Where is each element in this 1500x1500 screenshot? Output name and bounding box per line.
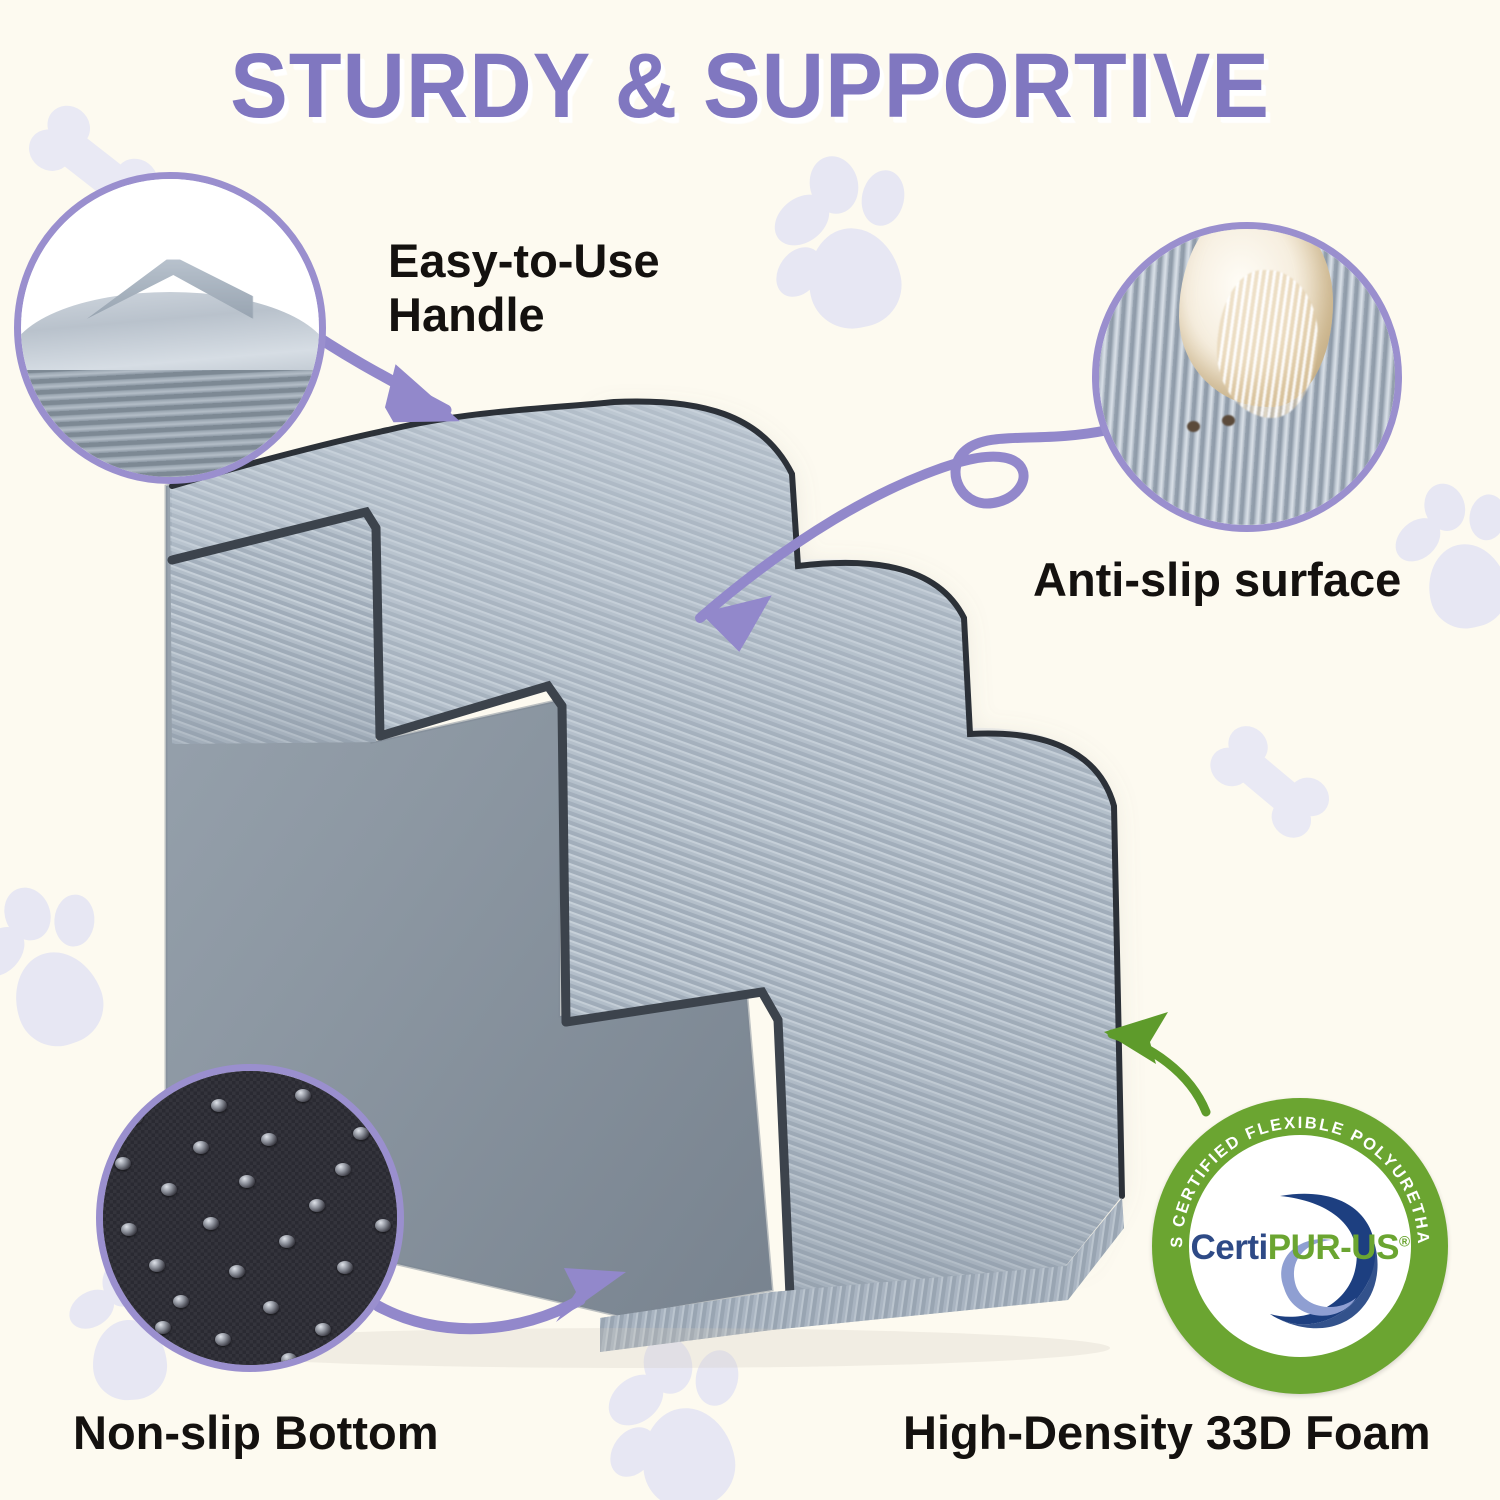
- handle-closeup-circle[interactable]: [14, 172, 326, 484]
- dog-toe-nail: [1222, 415, 1235, 426]
- antislip-closeup-circle[interactable]: [1092, 222, 1402, 532]
- arrow-nonslip-head: [556, 1268, 626, 1322]
- handle-corduroy-ribs: [14, 370, 326, 477]
- badge-wordmark: CertiPUR-US®: [1152, 1228, 1448, 1268]
- nonslip-grip-dots: [103, 1071, 397, 1365]
- badge-registered-mark: ®: [1399, 1234, 1410, 1251]
- callout-label-nonslip: Non-slip Bottom: [73, 1406, 439, 1460]
- dog-toe-nail: [1187, 421, 1200, 432]
- arrow-handle-head: [384, 364, 466, 430]
- arrow-nonslip: [378, 1300, 580, 1329]
- badge-wordmark-certi: Certi: [1191, 1228, 1268, 1267]
- callout-label-foam: High-Density 33D Foam: [903, 1406, 1431, 1460]
- dog-fur-strands: [1217, 270, 1318, 418]
- badge-arc-top-text: CONTAINS CERTIFIED FLEXIBLE POLYURETHANE…: [1152, 1098, 1432, 1248]
- badge-arc-top-textpath: CONTAINS CERTIFIED FLEXIBLE POLYURETHANE…: [1152, 1098, 1432, 1248]
- nonslip-closeup-circle[interactable]: [96, 1064, 404, 1372]
- infographic-canvas: STURDY & SUPPORTIVE: [0, 0, 1500, 1500]
- callout-label-antislip: Anti-slip surface: [1033, 553, 1401, 607]
- badge-wordmark-purus: PUR-US: [1268, 1228, 1399, 1267]
- certipur-us-badge[interactable]: CONTAINS CERTIFIED FLEXIBLE POLYURETHANE…: [1152, 1098, 1448, 1394]
- callout-label-handle: Easy-to-Use Handle: [388, 234, 660, 341]
